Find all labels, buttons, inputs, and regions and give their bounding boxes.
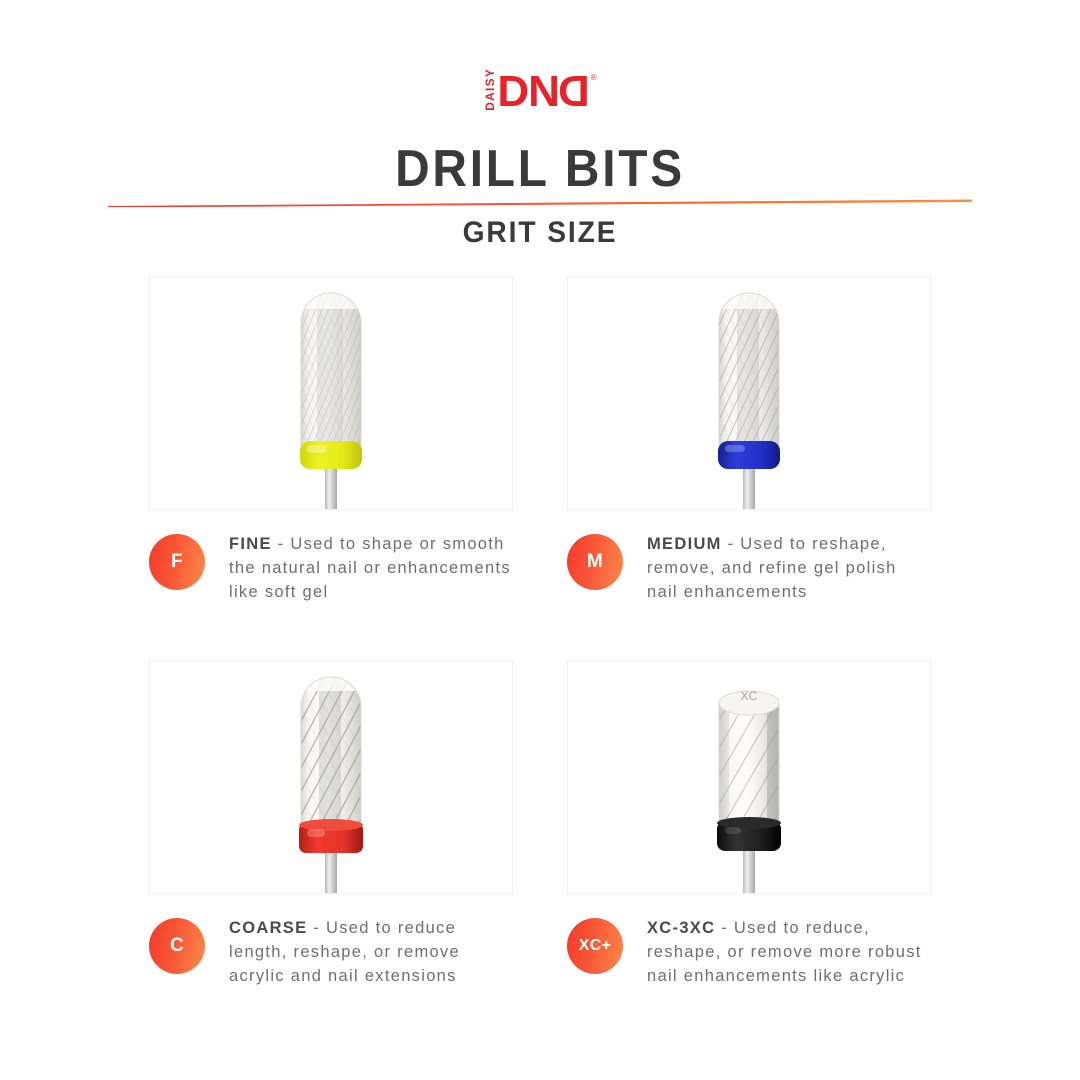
grit-badge-xc: XC+ [567, 918, 623, 974]
grit-separator: - [307, 919, 326, 937]
page-title: DRILL BITS [43, 139, 1037, 199]
drill-bit-card-xc: XC XC+ XC-3XC - Used to reduce, reshape,… [567, 660, 931, 988]
grit-badge-medium: M [567, 534, 623, 590]
xc-drill-bit-image: XC [567, 660, 931, 894]
drill-bit-card-medium: M MEDIUM - Used to reshape, remove, and … [567, 276, 931, 604]
registered-mark-icon: ® [591, 74, 596, 81]
card-caption: C COARSE - Used to reduce length, reshap… [149, 916, 513, 988]
grit-separator: - [715, 919, 734, 937]
grit-description: XC-3XC - Used to reduce, reshape, or rem… [647, 916, 931, 988]
grit-badge-fine: F [149, 534, 205, 590]
grit-separator: - [722, 535, 741, 553]
grit-description: MEDIUM - Used to reshape, remove, and re… [647, 532, 931, 604]
drill-bit-card-fine: F FINE - Used to shape or smooth the nat… [149, 276, 513, 604]
grit-label: COARSE [229, 919, 307, 937]
drill-bit-grid: F FINE - Used to shape or smooth the nat… [149, 276, 931, 1016]
bit-top-marking: XC [741, 689, 758, 703]
dnd-letters: DN [497, 72, 559, 112]
daisy-wordmark: DAISY [484, 68, 496, 111]
card-caption: F FINE - Used to shape or smooth the nat… [149, 532, 513, 604]
card-caption: XC+ XC-3XC - Used to reduce, reshape, or… [567, 916, 931, 988]
grit-separator: - [272, 535, 291, 553]
poster-root: DAISY DND® DRILL BITS GRIT SIZE [0, 0, 1080, 1080]
grit-description: COARSE - Used to reduce length, reshape,… [229, 916, 513, 988]
drill-bit-card-coarse: C COARSE - Used to reduce length, reshap… [149, 660, 513, 988]
gradient-divider [108, 197, 972, 207]
page-subtitle: GRIT SIZE [32, 216, 1047, 250]
brand-logo: DAISY DND® [0, 66, 1080, 112]
grit-label: XC-3XC [647, 919, 715, 937]
fine-drill-bit-image [149, 276, 513, 510]
grit-badge-coarse: C [149, 918, 205, 974]
card-caption: M MEDIUM - Used to reshape, remove, and … [567, 532, 931, 604]
dnd-mirrored-letter: D [559, 72, 590, 112]
grit-label: MEDIUM [647, 535, 722, 553]
medium-drill-bit-image [567, 276, 931, 510]
grit-label: FINE [229, 535, 272, 553]
coarse-drill-bit-image [149, 660, 513, 894]
dnd-wordmark: DND® [497, 72, 595, 112]
grit-description: FINE - Used to shape or smooth the natur… [229, 532, 513, 604]
